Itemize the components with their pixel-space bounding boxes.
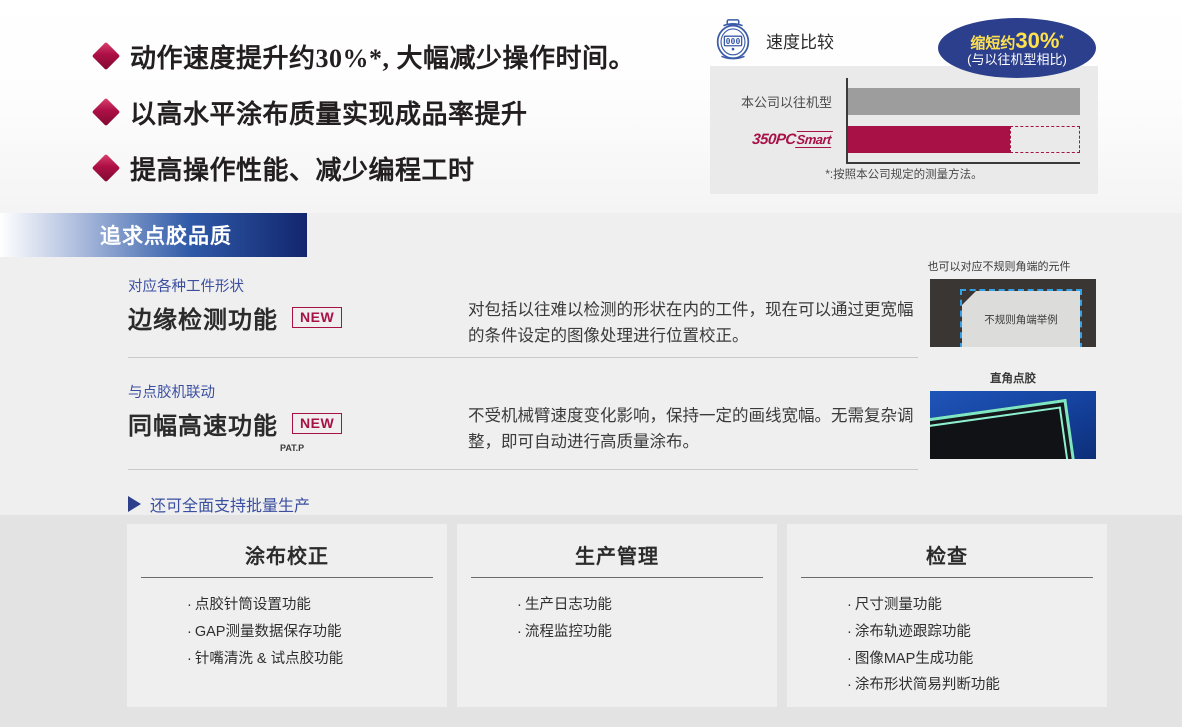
bullet-dot-icon: · bbox=[847, 651, 852, 667]
thumbnail-right-angle-dispense: 直角点胶 bbox=[930, 370, 1096, 459]
list-item: ·GAP测量数据保存功能 bbox=[187, 619, 447, 646]
top-section: 动作速度提升约30%*, 大幅减少操作时间。 以高水平涂布质量实现成品率提升 提… bbox=[0, 0, 1182, 213]
list-item: ·生产日志功能 bbox=[517, 592, 777, 619]
bullet-dot-icon: · bbox=[847, 597, 852, 613]
logo-part-2: Smart bbox=[795, 131, 833, 148]
bullet-text: 提高操作性能、减少编程工时 bbox=[130, 150, 475, 187]
triangle-right-icon bbox=[128, 496, 141, 512]
svg-text:000: 000 bbox=[726, 36, 741, 46]
list-item-label: 生产日志功能 bbox=[525, 597, 612, 613]
selection-marquee bbox=[960, 289, 1082, 347]
bar-track-new bbox=[848, 126, 1080, 153]
bullet-dot-icon: · bbox=[847, 624, 852, 640]
feature-description: 对包括以往难以检测的形状在内的工件，现在可以通过更宽幅的条件设定的图像处理进行位… bbox=[468, 297, 918, 348]
thumbnail-image bbox=[930, 391, 1096, 459]
section-band-gradient: 追求点胶品质 bbox=[0, 213, 307, 257]
card-title: 涂布校正 bbox=[127, 524, 447, 569]
bullet-item: 提高操作性能、减少编程工时 bbox=[96, 140, 696, 196]
bar-chart: 本公司以往机型 350PCSmart bbox=[728, 78, 1080, 164]
reduction-value: 30% bbox=[1015, 28, 1059, 53]
feature-divider bbox=[128, 469, 918, 470]
logo-part-1: 350PC bbox=[751, 131, 796, 148]
feature-divider bbox=[128, 357, 918, 358]
feature-kicker: 对应各种工件形状 bbox=[128, 275, 458, 296]
list-item: ·涂布形状简易判断功能 bbox=[847, 672, 1107, 699]
list-item-label: 图像MAP生成功能 bbox=[855, 651, 973, 667]
card-title: 生产管理 bbox=[457, 524, 777, 569]
speed-panel-title: 速度比较 bbox=[766, 28, 834, 53]
list-item: ·针嘴清洗 & 试点胶功能 bbox=[187, 646, 447, 673]
thumbnail-caption: 直角点胶 bbox=[930, 370, 1096, 386]
reduction-star: * bbox=[1059, 33, 1063, 45]
thumbnail-irregular-corner: 也可以对应不规则角端的元件 不规则角端举例 bbox=[930, 258, 1096, 347]
card-coating-correction: 涂布校正 ·点胶针筒设置功能 ·GAP测量数据保存功能 ·针嘴清洗 & 试点胶功… bbox=[127, 524, 447, 707]
card-divider bbox=[801, 577, 1093, 578]
card-production-management: 生产管理 ·生产日志功能 ·流程监控功能 bbox=[457, 524, 777, 707]
feature-kicker: 与点胶机联动 bbox=[128, 381, 458, 402]
feature-description: 不受机械臂速度变化影响，保持一定的画线宽幅。无需复杂调整，即可自动进行高质量涂布… bbox=[468, 403, 918, 454]
feature-cards: 涂布校正 ·点胶针筒设置功能 ·GAP测量数据保存功能 ·针嘴清洗 & 试点胶功… bbox=[127, 524, 1117, 707]
bullet-dot-icon: · bbox=[187, 597, 192, 613]
diamond-bullet-icon bbox=[92, 42, 120, 70]
sub-heading: 还可全面支持批量生产 bbox=[128, 492, 310, 516]
bullet-dot-icon: · bbox=[517, 624, 522, 640]
bar-track-legacy bbox=[848, 88, 1080, 115]
bullet-text: 以高水平涂布质量实现成品率提升 bbox=[130, 94, 528, 131]
thumbnail-caption: 也可以对应不规则角端的元件 bbox=[902, 258, 1096, 274]
product-logo: 350PCSmart bbox=[727, 131, 841, 148]
card-item-list: ·生产日志功能 ·流程监控功能 bbox=[457, 592, 777, 646]
new-badge: NEW bbox=[292, 307, 342, 328]
bullet-text: 动作速度提升约30%*, 大幅减少操作时间。 bbox=[130, 38, 635, 75]
bar-new bbox=[848, 126, 1010, 153]
list-item-label: 针嘴清洗 & 试点胶功能 bbox=[195, 651, 343, 667]
feature-heading-block: 对应各种工件形状 边缘检测功能 NEW bbox=[128, 275, 458, 335]
bar-reduction-outline bbox=[1010, 126, 1080, 153]
bullet-dot-icon: · bbox=[847, 677, 852, 693]
list-item-label: 流程监控功能 bbox=[525, 624, 612, 640]
page-root: 动作速度提升约30%*, 大幅减少操作时间。 以高水平涂布质量实现成品率提升 提… bbox=[0, 0, 1182, 727]
diamond-bullet-icon bbox=[92, 154, 120, 182]
reduction-badge-line1: 缩短约30%* bbox=[970, 28, 1063, 53]
reduction-prefix: 缩短约 bbox=[970, 35, 1015, 52]
reduction-badge: 缩短约30%* (与以往机型相比) bbox=[938, 18, 1096, 78]
feature-title: 边缘检测功能 bbox=[128, 300, 278, 335]
list-item-label: 涂布形状简易判断功能 bbox=[855, 677, 1000, 693]
feature-title: 同幅高速功能 bbox=[128, 406, 278, 441]
sub-heading-text: 还可全面支持批量生产 bbox=[150, 492, 310, 516]
bullet-list: 动作速度提升约30%*, 大幅减少操作时间。 以高水平涂布质量实现成品率提升 提… bbox=[96, 28, 696, 196]
bullet-item: 以高水平涂布质量实现成品率提升 bbox=[96, 84, 696, 140]
new-badge: NEW bbox=[292, 413, 342, 434]
list-item-label: GAP测量数据保存功能 bbox=[195, 624, 342, 640]
chart-row-legacy: 本公司以往机型 bbox=[728, 86, 1080, 116]
bar-legacy bbox=[848, 88, 1080, 115]
chart-footnote: *:按照本公司规定的测量方法。 bbox=[710, 166, 1098, 182]
card-divider bbox=[471, 577, 763, 578]
card-inspection: 检查 ·尺寸测量功能 ·涂布轨迹跟踪功能 ·图像MAP生成功能 ·涂布形状简易判… bbox=[787, 524, 1107, 707]
section-title: 追求点胶品质 bbox=[100, 220, 232, 250]
list-item-label: 涂布轨迹跟踪功能 bbox=[855, 624, 971, 640]
card-title: 检查 bbox=[787, 524, 1107, 569]
card-item-list: ·点胶针筒设置功能 ·GAP测量数据保存功能 ·针嘴清洗 & 试点胶功能 bbox=[127, 592, 447, 672]
card-item-list: ·尺寸测量功能 ·涂布轨迹跟踪功能 ·图像MAP生成功能 ·涂布形状简易判断功能 bbox=[787, 592, 1107, 699]
chart-label-legacy: 本公司以往机型 bbox=[728, 92, 840, 111]
reduction-badge-line2: (与以往机型相比) bbox=[967, 53, 1067, 68]
list-item: ·尺寸测量功能 bbox=[847, 592, 1107, 619]
section-band: 追求点胶品质 bbox=[0, 213, 1182, 257]
stopwatch-icon: 000 bbox=[710, 17, 756, 63]
list-item: ·涂布轨迹跟踪功能 bbox=[847, 619, 1107, 646]
list-item: ·点胶针筒设置功能 bbox=[187, 592, 447, 619]
feature-title-row: 同幅高速功能 NEW bbox=[128, 406, 458, 441]
bullet-dot-icon: · bbox=[187, 624, 192, 640]
card-divider bbox=[141, 577, 433, 578]
list-item: ·图像MAP生成功能 bbox=[847, 646, 1107, 673]
bullet-dot-icon: · bbox=[187, 651, 192, 667]
diamond-bullet-icon bbox=[92, 98, 120, 126]
speed-chart-container: 本公司以往机型 350PCSmart bbox=[710, 66, 1098, 194]
list-item: ·流程监控功能 bbox=[517, 619, 777, 646]
chart-row-new: 350PCSmart bbox=[728, 124, 1080, 154]
bullet-dot-icon: · bbox=[517, 597, 522, 613]
chart-x-axis bbox=[846, 162, 1080, 164]
feature-title-row: 边缘检测功能 NEW bbox=[128, 300, 458, 335]
feature-heading-block: 与点胶机联动 同幅高速功能 NEW PAT.P bbox=[128, 381, 458, 453]
list-item-label: 尺寸测量功能 bbox=[855, 597, 942, 613]
thumbnail-image: 不规则角端举例 bbox=[930, 279, 1096, 347]
bullet-item: 动作速度提升约30%*, 大幅减少操作时间。 bbox=[96, 28, 696, 84]
patent-pending-label: PAT.P bbox=[280, 443, 458, 453]
list-item-label: 点胶针筒设置功能 bbox=[195, 597, 311, 613]
